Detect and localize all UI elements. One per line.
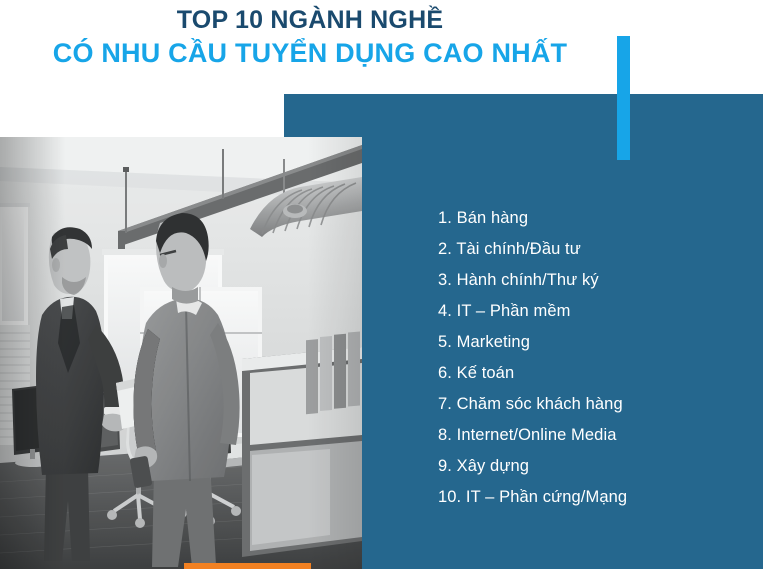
list-item: 8. Internet/Online Media bbox=[438, 420, 758, 451]
list-item: 2. Tài chính/Đầu tư bbox=[438, 234, 758, 265]
list-item: 5. Marketing bbox=[438, 327, 758, 358]
page-title-line-2: CÓ NHU CẦU TUYỂN DỤNG CAO NHẤT bbox=[0, 36, 620, 70]
list-item: 7. Chăm sóc khách hàng bbox=[438, 389, 758, 420]
vertical-accent-bar bbox=[617, 36, 630, 160]
list-item: 9. Xây dựng bbox=[438, 451, 758, 482]
list-item: 6. Kế toán bbox=[438, 358, 758, 389]
list-item: 3. Hành chính/Thư ký bbox=[438, 265, 758, 296]
office-photo-illustration bbox=[0, 137, 362, 569]
office-photo bbox=[0, 137, 362, 569]
list-item: 10. IT – Phần cứng/Mạng bbox=[438, 482, 758, 513]
list-item: 1. Bán hàng bbox=[438, 203, 758, 234]
bottom-accent-bar bbox=[184, 563, 311, 569]
list-item: 4. IT – Phần mềm bbox=[438, 296, 758, 327]
title-block: TOP 10 NGÀNH NGHỀ CÓ NHU CẦU TUYỂN DỤNG … bbox=[0, 4, 620, 70]
job-list: 1. Bán hàng 2. Tài chính/Đầu tư 3. Hành … bbox=[438, 203, 758, 513]
page-title-line-1: TOP 10 NGÀNH NGHỀ bbox=[0, 4, 620, 36]
infographic-poster: TOP 10 NGÀNH NGHỀ CÓ NHU CẦU TUYỂN DỤNG … bbox=[0, 0, 763, 569]
